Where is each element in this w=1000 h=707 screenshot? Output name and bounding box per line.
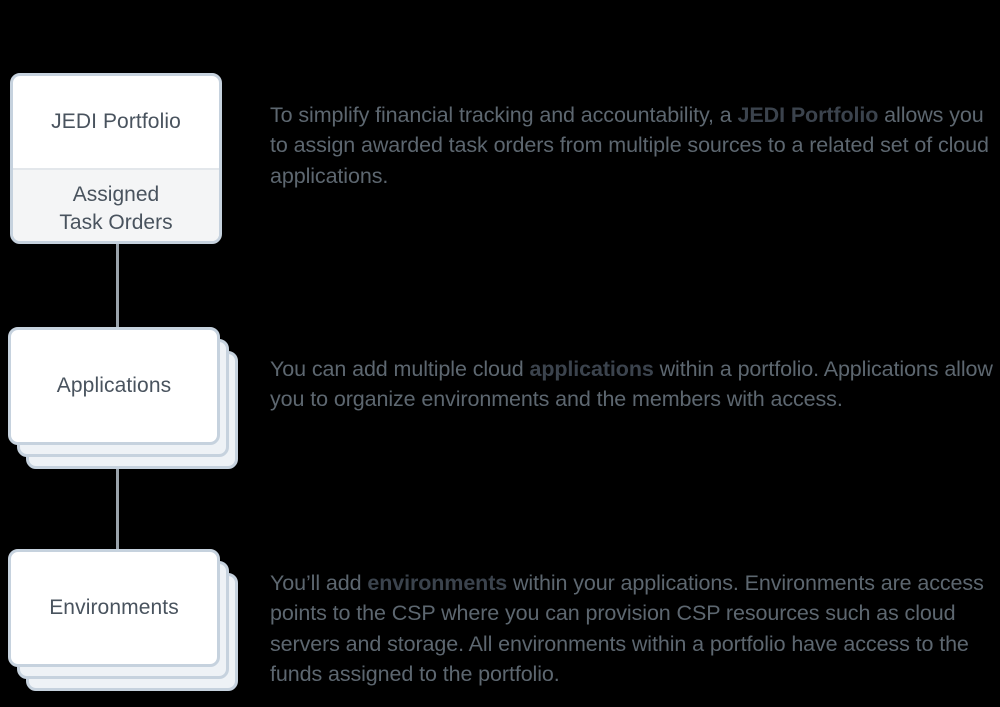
description-emphasis: environments [367, 571, 507, 595]
description-emphasis: applications [529, 357, 653, 381]
connector-applications-to-environments [116, 462, 119, 550]
node-environments: Environments [8, 549, 234, 695]
card-environments: Environments [8, 549, 220, 667]
description-emphasis: JEDI Portfolio [738, 103, 879, 127]
description-jedi-portfolio: To simplify financial tracking and accou… [270, 100, 1000, 192]
description-text-part1: You can add multiple cloud [270, 357, 529, 381]
description-text-part1: To simplify financial tracking and accou… [270, 103, 738, 127]
node-label-environments: Environments [11, 552, 217, 664]
description-applications: You can add multiple cloud applications … [270, 354, 1000, 415]
card-jedi-portfolio: JEDI Portfolio Assigned Task Orders [10, 73, 222, 244]
card-applications: Applications [8, 327, 220, 445]
node-label-applications: Applications [11, 330, 217, 442]
description-text-part1: You’ll add [270, 571, 367, 595]
node-sublabel-assigned-task-orders: Assigned Task Orders [13, 168, 219, 244]
portfolio-hierarchy-diagram: JEDI Portfolio Assigned Task Orders Appl… [0, 0, 1000, 707]
description-environments: You’ll add environments within your appl… [270, 568, 1000, 690]
connector-portfolio-to-applications [116, 244, 119, 328]
node-jedi-portfolio: JEDI Portfolio Assigned Task Orders [10, 73, 222, 244]
node-applications: Applications [8, 327, 234, 473]
node-label-jedi-portfolio: JEDI Portfolio [13, 76, 219, 168]
